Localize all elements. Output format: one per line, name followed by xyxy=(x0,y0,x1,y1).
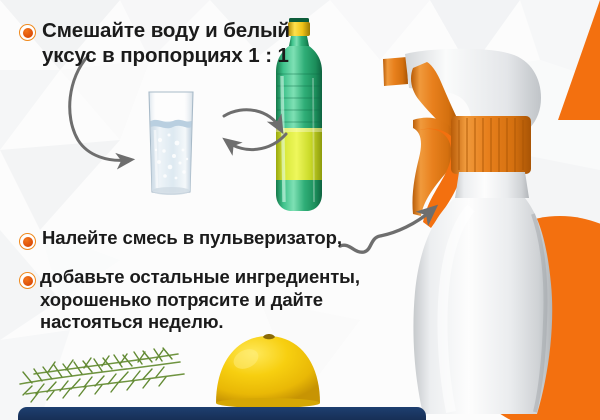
arrow-glass-vinegar-double-icon xyxy=(214,96,296,172)
bullet-step-1 xyxy=(19,24,36,41)
step-2-text: Налейте смесь в пульверизатор, xyxy=(42,227,372,250)
bullet-step-2 xyxy=(19,233,36,250)
infographic-canvas: Смешайте воду и белый уксус в пропорциях… xyxy=(0,0,600,420)
bullet-step-3 xyxy=(19,272,36,289)
step-3-text: добавьте остальные ингредиенты, хорошень… xyxy=(40,266,380,334)
rosemary-sprigs xyxy=(8,336,190,412)
bottom-banner xyxy=(18,407,426,420)
step-1-text: Смешайте воду и белый уксус в пропорциях… xyxy=(42,18,372,68)
lemon-half xyxy=(213,331,323,409)
arrow-text-to-glass-icon xyxy=(52,52,180,170)
